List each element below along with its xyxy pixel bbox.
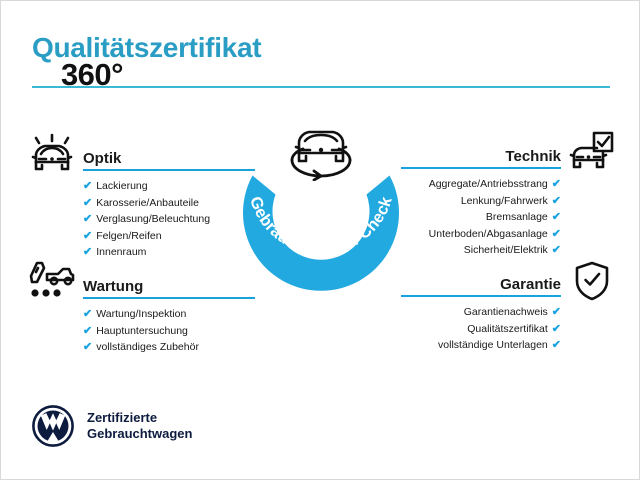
check-icon: ✔ — [83, 197, 92, 209]
section-optik-title: Optik — [83, 150, 121, 167]
list-item-label: vollständiges Zubehör — [96, 341, 199, 353]
list-item: Garantienachweis✔ — [401, 304, 561, 321]
section-optik-list: ✔Lackierung ✔Karosserie/Anbauteile ✔Verg… — [83, 178, 255, 261]
badge-center-label: 360° — [1, 57, 183, 93]
section-garantie-list: Garantienachweis✔ Qualitätszertifikat✔ v… — [401, 304, 561, 354]
list-item-label: Hauptuntersuchung — [96, 325, 188, 337]
section-wartung-list: ✔Wartung/Inspektion ✔Hauptuntersuchung ✔… — [83, 306, 255, 356]
list-item-label: Sicherheit/Elektrik — [464, 244, 548, 256]
car-shine-icon — [29, 132, 75, 176]
list-item: ✔vollständiges Zubehör — [83, 339, 255, 356]
list-item-label: Wartung/Inspektion — [96, 308, 186, 320]
list-item-label: Garantienachweis — [464, 306, 548, 318]
section-optik-divider — [83, 169, 255, 171]
check-icon: ✔ — [552, 339, 561, 351]
section-optik: Optik ✔Lackierung ✔Karosserie/Anbauteile… — [83, 141, 255, 261]
section-technik: Technik Aggregate/Antriebsstrang✔ Lenkun… — [401, 139, 561, 259]
car-rotate-360-icon — [283, 119, 359, 181]
list-item: ✔Karosserie/Anbauteile — [83, 195, 255, 212]
check-icon: ✔ — [552, 195, 561, 207]
list-item: Qualitätszertifikat✔ — [401, 321, 561, 338]
vw-footer-text: Zertifizierte Gebrauchtwagen — [87, 410, 192, 442]
check-icon: ✔ — [83, 341, 92, 353]
list-item: ✔Hauptuntersuchung — [83, 323, 255, 340]
list-item-label: vollständige Unterlagen — [438, 339, 548, 351]
list-item-label: Karosserie/Anbauteile — [96, 197, 199, 209]
list-item-label: Lackierung — [96, 180, 147, 192]
section-garantie: Garantie Garantienachweis✔ Qualitätszert… — [401, 267, 561, 354]
check-icon: ✔ — [83, 213, 92, 225]
check-icon: ✔ — [83, 325, 92, 337]
list-item: Sicherheit/Elektrik✔ — [401, 242, 561, 259]
shield-check-icon — [573, 260, 611, 302]
section-wartung: Wartung ✔Wartung/Inspektion ✔Hauptunters… — [83, 269, 255, 356]
section-garantie-header: Garantie — [401, 267, 561, 297]
check-icon: ✔ — [83, 246, 92, 258]
vw-footer: Zertifizierte Gebrauchtwagen — [32, 405, 192, 447]
section-garantie-divider — [401, 295, 561, 297]
list-item-label: Aggregate/Antriebsstrang — [429, 178, 548, 190]
wrench-car-icon — [28, 260, 76, 300]
list-item: vollständige Unterlagen✔ — [401, 337, 561, 354]
section-optik-header: Optik — [83, 141, 255, 171]
car-checkbox-icon — [569, 130, 615, 174]
section-technik-list: Aggregate/Antriebsstrang✔ Lenkung/Fahrwe… — [401, 176, 561, 259]
list-item-label: Felgen/Reifen — [96, 230, 161, 242]
check-icon: ✔ — [552, 178, 561, 190]
list-item: Bremsanlage✔ — [401, 209, 561, 226]
list-item: Aggregate/Antriebsstrang✔ — [401, 176, 561, 193]
list-item-label: Qualitätszertifikat — [467, 323, 548, 335]
list-item-label: Unterboden/Abgasanlage — [429, 228, 548, 240]
list-item: ✔Felgen/Reifen — [83, 228, 255, 245]
check-icon: ✔ — [83, 308, 92, 320]
certificate-page: Qualitätszertifikat Gebrauchtwagen-Check… — [0, 0, 640, 480]
section-technik-title: Technik — [505, 148, 561, 165]
list-item: Unterboden/Abgasanlage✔ — [401, 226, 561, 243]
list-item: ✔Innenraum — [83, 244, 255, 261]
list-item-label: Lenkung/Fahrwerk — [461, 195, 548, 207]
check-icon: ✔ — [552, 228, 561, 240]
section-technik-divider — [401, 167, 561, 169]
check-icon: ✔ — [552, 244, 561, 256]
section-garantie-title: Garantie — [500, 276, 561, 293]
list-item: Lenkung/Fahrwerk✔ — [401, 193, 561, 210]
check-icon: ✔ — [552, 323, 561, 335]
list-item: ✔Lackierung — [83, 178, 255, 195]
vw-logo-icon — [32, 405, 74, 447]
section-wartung-header: Wartung — [83, 269, 255, 299]
section-wartung-divider — [83, 297, 255, 299]
check-icon: ✔ — [83, 180, 92, 192]
vw-footer-line1: Zertifizierte — [87, 410, 192, 426]
check-icon: ✔ — [83, 230, 92, 242]
section-wartung-title: Wartung — [83, 278, 143, 295]
list-item-label: Innenraum — [96, 246, 146, 258]
check-icon: ✔ — [552, 211, 561, 223]
section-technik-header: Technik — [401, 139, 561, 169]
list-item: ✔Wartung/Inspektion — [83, 306, 255, 323]
list-item-label: Verglasung/Beleuchtung — [96, 213, 210, 225]
list-item: ✔Verglasung/Beleuchtung — [83, 211, 255, 228]
check-icon: ✔ — [552, 306, 561, 318]
list-item-label: Bremsanlage — [486, 211, 548, 223]
vw-footer-line2: Gebrauchtwagen — [87, 426, 192, 442]
